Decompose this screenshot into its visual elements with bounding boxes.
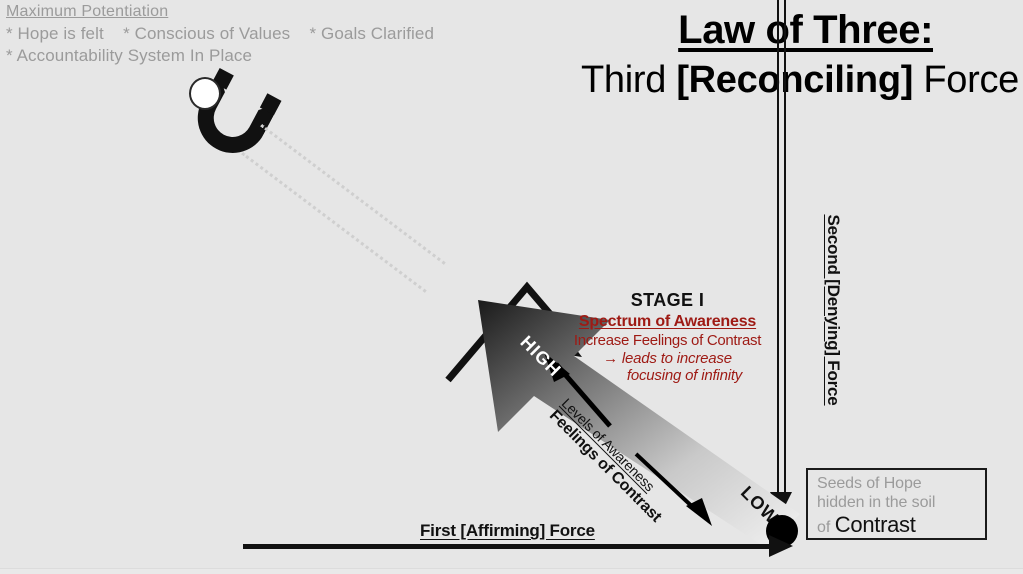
second-force-label: Second [Denying] Force bbox=[823, 195, 843, 425]
first-force-arrowhead-icon bbox=[769, 535, 793, 557]
page-title: Law of Three: bbox=[678, 8, 933, 53]
notes-heading: Maximum Potentiation bbox=[6, 2, 546, 22]
title-block: Law of Three: Third [Reconciling] Force bbox=[581, 8, 1019, 102]
bottom-strip bbox=[0, 568, 1023, 574]
stage-line-1: Increase Feelings of Contrast bbox=[560, 332, 775, 350]
title-subtitle: Third [Reconciling] Force bbox=[581, 59, 1019, 102]
notes-block: Maximum Potentiation * Hope is felt * Co… bbox=[6, 2, 546, 67]
dotted-trail-upper bbox=[260, 124, 445, 265]
stage-text-block: STAGE I Spectrum of Awareness Increase F… bbox=[560, 290, 775, 385]
stage-subtitle: Spectrum of Awareness bbox=[560, 313, 775, 332]
title-sub-post: Force bbox=[913, 59, 1019, 101]
title-sub-bracket: [Reconciling] bbox=[676, 59, 913, 101]
stage-title: STAGE I bbox=[560, 290, 775, 311]
stage-line-2: → leads to increase bbox=[560, 350, 775, 368]
title-sub-pre: Third bbox=[581, 59, 676, 101]
seeds-line-3: of Contrast bbox=[817, 519, 916, 536]
seeds-of-hope-box: Seeds of Hope hidden in the soil of Cont… bbox=[806, 468, 987, 540]
first-force-axis bbox=[243, 544, 775, 549]
notes-line-1: * Hope is felt * Conscious of Values * G… bbox=[6, 23, 546, 45]
stage-line-3: focusing of infinity bbox=[560, 367, 775, 385]
title-main-row: Law of Three: bbox=[581, 8, 1019, 53]
dotted-trail-lower bbox=[241, 152, 426, 293]
seeds-line-3-pre: of bbox=[817, 519, 835, 536]
seeds-line-2: hidden in the soil bbox=[817, 494, 985, 513]
seeds-line-3-strong: Contrast bbox=[835, 512, 916, 537]
white-ball-icon bbox=[189, 77, 221, 110]
seeds-line-1: Seeds of Hope bbox=[817, 475, 985, 494]
first-force-label: First [Affirming] Force bbox=[420, 521, 595, 541]
slide-canvas: Maximum Potentiation * Hope is felt * Co… bbox=[0, 0, 1023, 574]
notes-line-2: * Accountability System In Place bbox=[6, 45, 546, 67]
